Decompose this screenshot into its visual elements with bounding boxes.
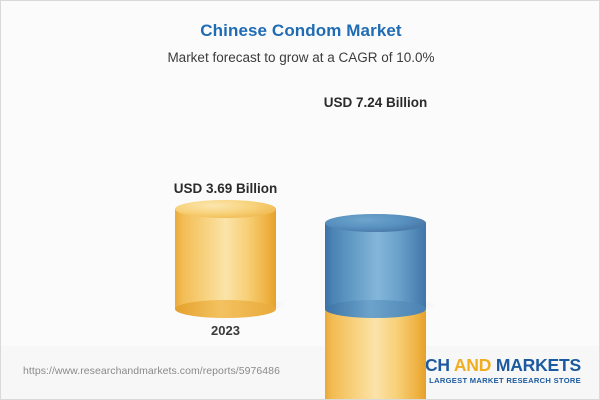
segment-top-ellipse: [325, 214, 426, 232]
chart-footer: https://www.researchandmarkets.com/repor…: [1, 346, 599, 399]
bar-segment-base-2030: [325, 309, 426, 400]
logo-word-markets: MARKETS: [496, 355, 581, 375]
segment-base-ellipse: [325, 300, 426, 318]
chart-plot-area: USD 3.69 Billion 2023 USD 7.24 Billion: [1, 1, 600, 346]
value-label-2030: USD 7.24 Billion: [256, 95, 496, 111]
logo-word-and: AND: [454, 355, 491, 375]
segment-body: [175, 209, 276, 309]
segment-top-ellipse: [175, 200, 276, 218]
segment-body: [325, 309, 426, 400]
value-label-2023: USD 3.69 Billion: [106, 181, 346, 197]
cylinder-2023: [175, 209, 276, 309]
bar-segment-base-2023: [175, 209, 276, 309]
source-url[interactable]: https://www.researchandmarkets.com/repor…: [23, 365, 280, 377]
segment-body: [325, 223, 426, 309]
segment-base-ellipse: [175, 300, 276, 318]
infographic-card: Chinese Condom Market Market forecast to…: [0, 0, 600, 400]
bar-segment-growth-2030: [325, 223, 426, 309]
category-label-2023: 2023: [146, 323, 306, 338]
bar-group-2023: USD 3.69 Billion 2023: [175, 209, 276, 309]
